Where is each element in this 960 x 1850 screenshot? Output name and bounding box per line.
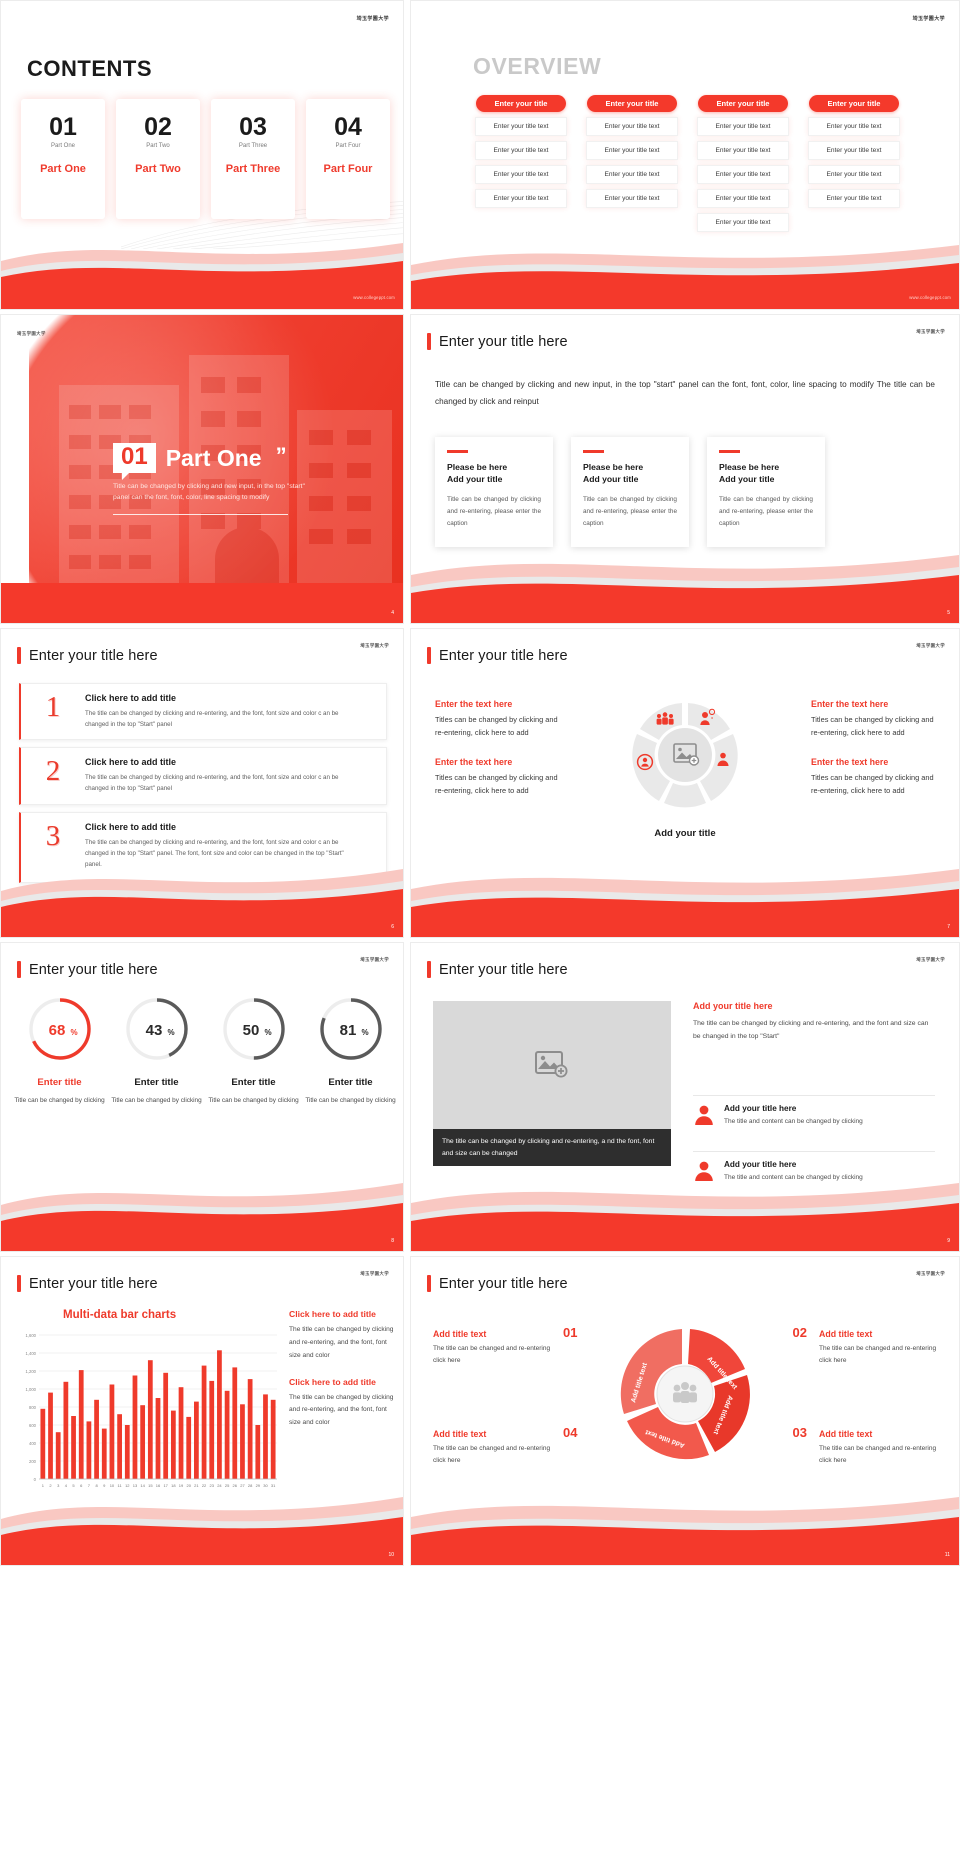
bar [94,1400,99,1479]
item-title: Add title text [433,1429,551,1439]
item-title: Add your title here [724,1160,863,1169]
ring-body: Title can be changed by clicking [302,1095,399,1106]
bar [232,1367,237,1479]
bar [40,1409,45,1479]
page-title: Enter your title here [427,961,568,978]
contents-card[interactable]: 01 Part One Part One [21,99,105,219]
bar [217,1350,222,1479]
item-body: The title can be changed and re-entering… [433,1443,551,1467]
overview-item[interactable]: Enter your title text [697,117,789,136]
bar-chart-svg: 02004006008001,0001,2001,4001,6001234567… [13,1329,281,1497]
overview-item[interactable]: Enter your title text [475,141,567,160]
brand-logo: 埼玉学園大学 [360,643,389,649]
item-number: 2 [21,757,85,786]
card-title-line1: Please be here [719,461,813,473]
bar [179,1387,184,1479]
segmented-donut [619,697,751,817]
part-number: 01 [113,443,156,473]
block-body: Titles can be changed by clicking and re… [435,772,563,798]
item-body: The title can be changed by clicking and… [85,772,357,794]
lead-paragraph: Title can be changed by clicking and new… [435,377,935,411]
page-number: 10 [388,1552,394,1558]
page-title: OVERVIEW [473,53,601,80]
title-text: Enter your title here [29,962,158,978]
brand-logo: 埼玉学園大学 [916,329,945,335]
svg-text:24: 24 [217,1483,222,1488]
slide-donut-segments[interactable]: Enter your title here 埼玉学園大学 Enter the t… [410,628,960,938]
svg-text:10: 10 [110,1483,115,1488]
ring-value: 81 [339,1022,356,1039]
svg-text:6: 6 [80,1483,83,1488]
title-accent-bar [17,1275,21,1292]
item-title: Click here to add title [85,757,357,767]
bar [186,1417,191,1479]
svg-text:1,400: 1,400 [26,1351,37,1356]
svg-text:2: 2 [49,1483,52,1488]
svg-text:200: 200 [29,1459,37,1464]
svg-text:1,600: 1,600 [26,1333,37,1338]
ring-cell[interactable]: 81 % Enter title Title can be changed by… [302,995,399,1106]
slide-bar-chart[interactable]: Enter your title here 埼玉学園大学 Multi-data … [0,1256,404,1566]
ring-value: 43 [145,1022,162,1039]
cover-text-block: 01Part One” Title can be changed by clic… [113,443,309,515]
ring-row: 68 % Enter title Title can be changed by… [11,995,401,1106]
title-text: Enter your title here [439,648,568,664]
card-row: Please be here Add your title Title can … [435,437,825,547]
person-icon [693,1160,715,1182]
item-body: The title and content can be changed by … [724,1116,863,1128]
cycle-svg: Add title text Add title text Add title … [610,1319,760,1469]
text-block: Click here to add title The title can be… [289,1309,399,1363]
bar [56,1432,61,1479]
slide-percentage-rings[interactable]: Enter your title here 埼玉学園大学 68 % Enter … [0,942,404,1252]
item-title: Add title text [433,1329,551,1339]
svg-text:0: 0 [34,1477,37,1482]
block-body: The title can be changed by clicking and… [693,1017,935,1044]
title-text: Enter your title here [439,334,568,350]
text-block: Enter the text here Titles can be change… [435,757,563,798]
cycle-number-03: 03 [793,1425,807,1440]
brand-logo: 埼玉学園大学 [913,15,945,22]
divider [113,514,288,515]
footer-wave [1,1173,403,1251]
card-title-line2: Add your title [719,473,813,485]
card-subtitle: Part One [51,143,75,149]
list-item[interactable]: Add your title here The title and conten… [693,1095,935,1128]
overview-item[interactable]: Enter your title text [808,141,900,160]
card-number: 03 [239,115,267,140]
svg-text:13: 13 [133,1483,138,1488]
column-header-pill[interactable]: Enter your title [698,95,788,112]
page-title: Enter your title here [17,647,158,664]
bar [156,1398,161,1479]
page-number: 9 [947,1238,950,1244]
card-label: Part Two [135,163,181,175]
title-text: Enter your title here [29,1276,158,1292]
ring-value: 68 [48,1022,65,1039]
title-text: Enter your title here [439,962,568,978]
title-accent-bar [17,647,21,664]
page-title: CONTENTS [27,56,152,82]
bar [140,1405,145,1479]
chart-title: Multi-data bar charts [63,1309,176,1321]
page-number: 4 [391,610,394,616]
card-body: Title can be changed by clicking and re-… [447,494,541,530]
card-subtitle: Part Four [335,143,360,149]
content-card[interactable]: Please be here Add your title Title can … [435,437,553,547]
svg-text:28: 28 [248,1483,253,1488]
right-text-column: Enter the text here Titles can be change… [811,699,939,815]
overview-item[interactable]: Enter your title text [808,165,900,184]
block-title: Enter the text here [811,699,939,709]
overview-item[interactable]: Enter your title text [475,165,567,184]
block-body: Titles can be changed by clicking and re… [811,714,939,740]
block-body: Titles can be changed by clicking and re… [435,714,563,740]
svg-text:1: 1 [42,1483,45,1488]
overview-item[interactable]: Enter your title text [475,189,567,208]
list-item[interactable]: 2 Click here to add title The title can … [19,747,387,804]
svg-text:19: 19 [179,1483,184,1488]
ring-unit: % [70,1028,77,1037]
cycle-item-tl[interactable]: Add title text The title can be changed … [433,1329,551,1367]
overview-columns: Enter your title Enter your title text E… [475,95,900,232]
svg-text:1,200: 1,200 [26,1369,37,1374]
overview-item[interactable]: Enter your title text [586,165,678,184]
overview-item[interactable]: Enter your title text [697,141,789,160]
title-accent-bar [427,1275,431,1292]
slide-contents[interactable]: 埼玉学園大学 CONTENTS 01 Part One Part One 02 … [0,0,404,310]
overview-item[interactable]: Enter your title text [697,189,789,208]
svg-text:16: 16 [156,1483,161,1488]
contents-card[interactable]: 02 Part Two Part Two [116,99,200,219]
card-body: Title can be changed by clicking and re-… [719,494,813,530]
bar [248,1379,253,1479]
block-body: The title can be changed by clicking and… [289,1324,399,1363]
block-title: Add your title here [693,1001,935,1011]
card-number: 02 [144,115,172,140]
title-accent-bar [427,333,431,350]
accent-tick [719,450,740,453]
item-title: Add title text [819,1329,937,1339]
bar [225,1391,230,1479]
accent-tick [447,450,468,453]
ring-cell[interactable]: 68 % Enter title Title can be changed by… [11,995,108,1106]
brand-logo: 埼玉学園大学 [916,1271,945,1277]
progress-ring: 43 % [123,995,191,1063]
ring-value: 50 [242,1022,259,1039]
item-body: The title and content can be changed by … [724,1172,863,1184]
item-title: Click here to add title [85,693,357,703]
block-title: Click here to add title [289,1309,399,1319]
content-card[interactable]: Please be here Add your title Title can … [571,437,689,547]
footer-wave [411,231,959,309]
overview-item[interactable]: Enter your title text [808,117,900,136]
content-card[interactable]: Please be here Add your title Title can … [707,437,825,547]
title-text: Enter your title here [439,1276,568,1292]
item-title: Click here to add title [85,822,357,832]
svg-text:1,000: 1,000 [26,1387,37,1392]
page-title: Enter your title here [17,961,158,978]
svg-text:27: 27 [240,1483,245,1488]
item-body: The title can be changed by clicking and… [85,837,357,870]
image-placeholder[interactable] [433,1001,671,1129]
page-number: 6 [391,924,394,930]
ring-body: Title can be changed by clicking [11,1095,108,1106]
svg-text:800: 800 [29,1405,37,1410]
ring-unit: % [361,1028,368,1037]
slide-numbered-list[interactable]: Enter your title here 埼玉学園大学 1 Click her… [0,628,404,938]
numbered-rows: 1 Click here to add title The title can … [19,683,387,883]
bar [271,1400,276,1479]
bar [125,1425,130,1479]
overview-item[interactable]: Enter your title text [586,117,678,136]
contents-card[interactable]: 04 Part Four Part Four [306,99,390,219]
overview-item[interactable]: Enter your title text [808,189,900,208]
bar [148,1360,153,1479]
page-title: Enter your title here [17,1275,158,1292]
footer-wave [411,545,959,623]
page-title: Enter your title here [427,333,568,350]
overview-item[interactable]: Enter your title text [586,141,678,160]
svg-text:30: 30 [263,1483,268,1488]
overview-item[interactable]: Enter your title text [475,117,567,136]
card-subtitle: Part Three [239,143,267,149]
page-title: Enter your title here [427,647,568,664]
card-title-line1: Please be here [583,461,677,473]
overview-column: Enter your title Enter your title text E… [475,95,567,232]
page-number: 5 [947,610,950,616]
quote-mark: ” [276,443,287,468]
bar [110,1385,115,1480]
overview-column: Enter your title Enter your title text E… [808,95,900,232]
item-title: Add your title here [724,1104,863,1113]
cycle-item-bl[interactable]: Add title text The title can be changed … [433,1429,551,1467]
right-text-column: Click here to add title The title can be… [289,1309,399,1444]
item-body: The title can be changed and re-entering… [819,1343,937,1367]
cover-description: Title can be changed by clicking and new… [113,481,309,503]
footer-wave [1,1487,403,1565]
title-text: Enter your title here [29,648,158,664]
block-body: The title can be changed by clicking and… [289,1392,399,1431]
overview-item[interactable]: Enter your title text [697,165,789,184]
image-caption: The title can be changed by clicking and… [433,1129,671,1166]
svg-text:8: 8 [95,1483,98,1488]
cycle-number-04: 04 [563,1425,577,1440]
accent-tick [583,450,604,453]
progress-ring: 50 % [220,995,288,1063]
item-title: Add title text [819,1429,937,1439]
svg-text:7: 7 [88,1483,91,1488]
left-text-column: Enter the text here Titles can be change… [435,699,563,815]
card-subtitle: Part Two [146,143,170,149]
svg-text:11: 11 [118,1483,123,1488]
person-icon [693,1104,715,1126]
block-title: Enter the text here [435,757,563,767]
svg-text:14: 14 [140,1483,145,1488]
bar [171,1411,176,1479]
list-item[interactable]: 3 Click here to add title The title can … [19,812,387,883]
page-number: 11 [945,1552,950,1558]
slide-overview[interactable]: 埼玉学園大学 OVERVIEW Enter your title Enter y… [410,0,960,310]
bar [48,1393,53,1479]
bar [102,1429,107,1479]
footer-website: www.collegeppt.com [353,295,395,300]
svg-text:9: 9 [103,1483,106,1488]
card-number: 01 [49,115,77,140]
cycle-diagram[interactable]: Add title text Add title text Add title … [610,1319,760,1474]
part-title: Part One [166,445,262,471]
ring-body: Title can be changed by clicking [205,1095,302,1106]
footer-wave [411,1487,959,1565]
footer-wave [411,1173,959,1251]
svg-text:12: 12 [125,1483,130,1488]
brand-logo: 埼玉学園大学 [360,957,389,963]
bar [209,1381,214,1479]
bar [87,1421,92,1479]
item-body: The title can be changed by clicking and… [85,708,357,730]
column-header-pill[interactable]: Enter your title [809,95,899,112]
overview-column: Enter your title Enter your title text E… [586,95,678,232]
center-caption: Add your title [619,828,751,839]
cycle-item-br[interactable]: Add title text The title can be changed … [819,1429,937,1467]
ring-cell[interactable]: 43 % Enter title Title can be changed by… [108,995,205,1106]
contents-card[interactable]: 03 Part Three Part Three [211,99,295,219]
svg-text:22: 22 [202,1483,207,1488]
bar [71,1416,76,1479]
text-block: Enter the text here Titles can be change… [811,757,939,798]
card-label: Part One [40,163,86,175]
text-block: Click here to add title The title can be… [289,1377,399,1431]
svg-text:25: 25 [225,1483,230,1488]
bar [202,1366,207,1479]
overview-column: Enter your title Enter your title text E… [697,95,789,232]
ring-title: Enter title [302,1077,399,1088]
right-top-block: Add your title here The title can be cha… [693,1001,935,1044]
cycle-number-01: 01 [563,1325,577,1340]
column-header-pill[interactable]: Enter your title [587,95,677,112]
ring-unit: % [264,1028,271,1037]
brand-logo: 埼玉学園大学 [916,957,945,963]
block-title: Click here to add title [289,1377,399,1387]
card-title-line1: Please be here [447,461,541,473]
svg-text:23: 23 [210,1483,215,1488]
block-body: Titles can be changed by clicking and re… [811,772,939,798]
bar [255,1425,260,1479]
page-number: 8 [391,1238,394,1244]
svg-text:29: 29 [256,1483,261,1488]
svg-text:21: 21 [194,1483,199,1488]
contents-cards: 01 Part One Part One 02 Part Two Part Tw… [21,99,390,219]
brand-logo: 埼玉学園大学 [360,1271,389,1277]
bar [194,1402,199,1479]
bar [79,1370,84,1479]
item-number: 3 [21,822,85,851]
item-body: The title can be changed and re-entering… [819,1443,937,1467]
image-placeholder-icon [535,1051,569,1079]
cycle-item-tr[interactable]: Add title text The title can be changed … [819,1329,937,1367]
card-body: Title can be changed by clicking and re-… [583,494,677,530]
ring-body: Title can be changed by clicking [108,1095,205,1106]
slide-image-list[interactable]: Enter your title here 埼玉学園大学 The title c… [410,942,960,1252]
page-number: 7 [947,924,950,930]
title-accent-bar [427,961,431,978]
title-accent-bar [17,961,21,978]
brand-logo: 埼玉学園大学 [916,643,945,649]
footer-wave [411,859,959,937]
card-label: Part Three [226,163,280,175]
slide-cycle-diagram[interactable]: Enter your title here 埼玉学園大学 Add title t… [410,1256,960,1566]
bar [263,1394,268,1479]
svg-text:4: 4 [65,1483,68,1488]
progress-ring: 81 % [317,995,385,1063]
card-label: Part Four [324,163,373,175]
bar [163,1373,168,1479]
text-block: Enter the text here Titles can be change… [811,699,939,740]
page-title: Enter your title here [427,1275,568,1292]
cycle-number-02: 02 [793,1325,807,1340]
footer-website: www.collegeppt.com [909,295,951,300]
ring-title: Enter title [205,1077,302,1088]
list-item[interactable]: Add your title here The title and conten… [693,1151,935,1184]
block-title: Enter the text here [435,699,563,709]
ring-cell[interactable]: 50 % Enter title Title can be changed by… [205,995,302,1106]
card-title-line2: Add your title [583,473,677,485]
svg-text:15: 15 [148,1483,153,1488]
brand-logo: 埼玉学園大学 [357,15,389,22]
slide-three-cards[interactable]: Enter your title here 埼玉学園大学 Title can b… [410,314,960,624]
svg-text:20: 20 [186,1483,191,1488]
svg-text:17: 17 [163,1483,168,1488]
donut-diagram[interactable]: Add your title [619,697,751,839]
list-item[interactable]: 1 Click here to add title The title can … [19,683,387,740]
svg-text:31: 31 [271,1483,276,1488]
people-icon [673,1382,697,1403]
slide-part-one-cover[interactable]: 埼玉学園大学 [0,314,404,624]
svg-text:5: 5 [72,1483,75,1488]
card-number: 04 [334,115,362,140]
bar-chart: 02004006008001,0001,2001,4001,6001234567… [13,1329,281,1497]
text-block: Enter the text here Titles can be change… [435,699,563,740]
column-header-pill[interactable]: Enter your title [476,95,566,112]
bar [240,1404,245,1479]
svg-text:26: 26 [233,1483,238,1488]
item-body: The title can be changed and re-entering… [433,1343,551,1367]
overview-item[interactable]: Enter your title text [697,213,789,232]
svg-text:3: 3 [57,1483,60,1488]
block-title: Enter the text here [811,757,939,767]
card-title-line2: Add your title [447,473,541,485]
ring-unit: % [167,1028,174,1037]
overview-item[interactable]: Enter your title text [586,189,678,208]
svg-text:600: 600 [29,1423,37,1428]
title-accent-bar [427,647,431,664]
svg-text:18: 18 [171,1483,176,1488]
ring-title: Enter title [11,1077,108,1088]
svg-text:400: 400 [29,1441,37,1446]
bar [133,1376,138,1480]
item-number: 1 [21,693,85,722]
bar [63,1382,68,1479]
progress-ring: 68 % [26,995,94,1063]
slide-grid: 埼玉学園大学 CONTENTS 01 Part One Part One 02 … [0,0,960,1566]
ring-title: Enter title [108,1077,205,1088]
bar [117,1414,122,1479]
